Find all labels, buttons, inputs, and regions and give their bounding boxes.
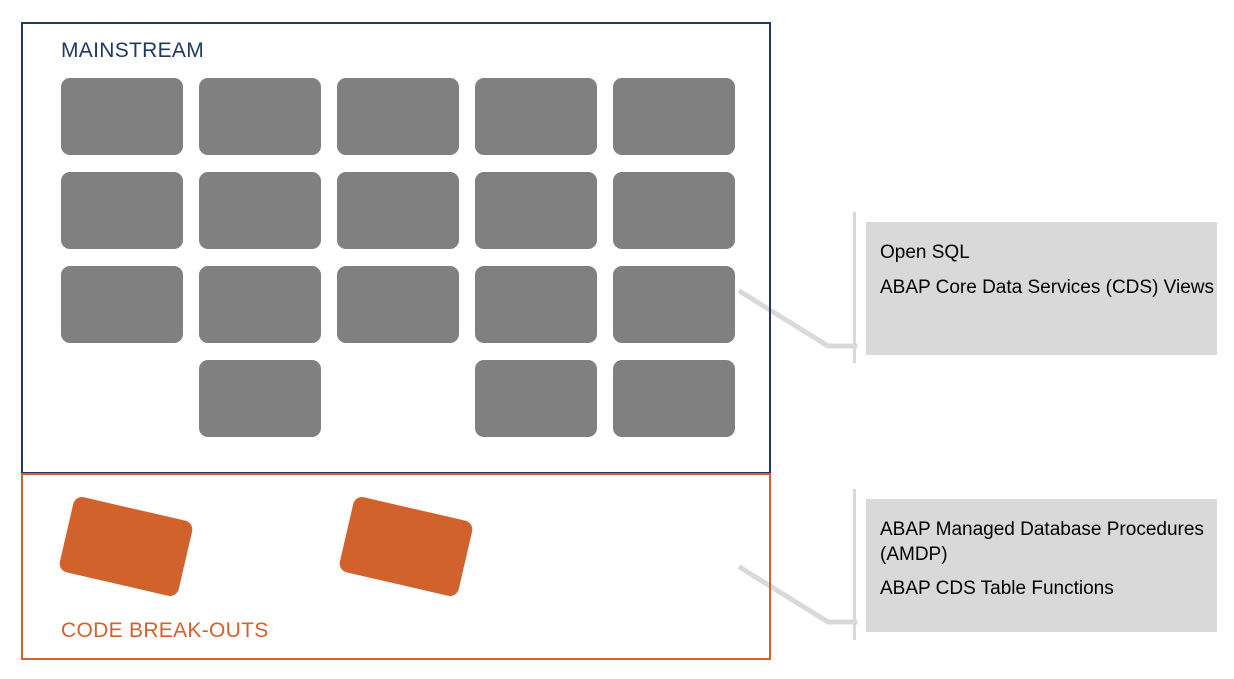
tile-r3c4 [475,266,597,343]
mainstream-callout-line-2: ABAP Core Data Services (CDS) Views [880,271,1217,306]
tile-r1c2 [199,78,321,155]
tile-r2c4 [475,172,597,249]
mainstream-tile-grid [61,78,737,450]
mainstream-callout: Open SQL ABAP Core Data Services (CDS) V… [853,212,1217,363]
tile-r1c4 [475,78,597,155]
mainstream-callout-line-1: Open SQL [880,236,1217,271]
tile-r1c3 [337,78,459,155]
diagram-canvas: MAINSTREAM CODE BREAK-OUTS [0,0,1234,679]
code-breakouts-section-title: CODE BREAK-OUTS [61,620,269,641]
code-breakouts-callout-box: ABAP Managed Database Procedures (AMDP) … [866,499,1217,632]
tile-r2c1 [61,172,183,249]
mainstream-section: MAINSTREAM [21,22,771,474]
tile-r1c5 [613,78,735,155]
tile-r4c2 [199,360,321,437]
tile-r1c1 [61,78,183,155]
tile-r4c5 [613,360,735,437]
tile-r4c1-empty [61,360,183,437]
tile-r2c2 [199,172,321,249]
tile-r3c2 [199,266,321,343]
code-breakouts-callout-line-1: ABAP Managed Database Procedures (AMDP) [880,513,1217,572]
mainstream-callout-box: Open SQL ABAP Core Data Services (CDS) V… [866,222,1217,355]
code-breakouts-callout-line-2: ABAP CDS Table Functions [880,572,1217,607]
mainstream-section-title: MAINSTREAM [61,40,204,61]
tile-r3c1 [61,266,183,343]
tile-r4c3-empty [337,360,459,437]
code-breakouts-callout: ABAP Managed Database Procedures (AMDP) … [853,489,1217,640]
tile-r3c5 [613,266,735,343]
mainstream-callout-bar [853,212,856,363]
tile-r4c4 [475,360,597,437]
tile-r2c3 [337,172,459,249]
tile-r2c5 [613,172,735,249]
code-breakouts-callout-bar [853,489,856,640]
tile-r3c3 [337,266,459,343]
